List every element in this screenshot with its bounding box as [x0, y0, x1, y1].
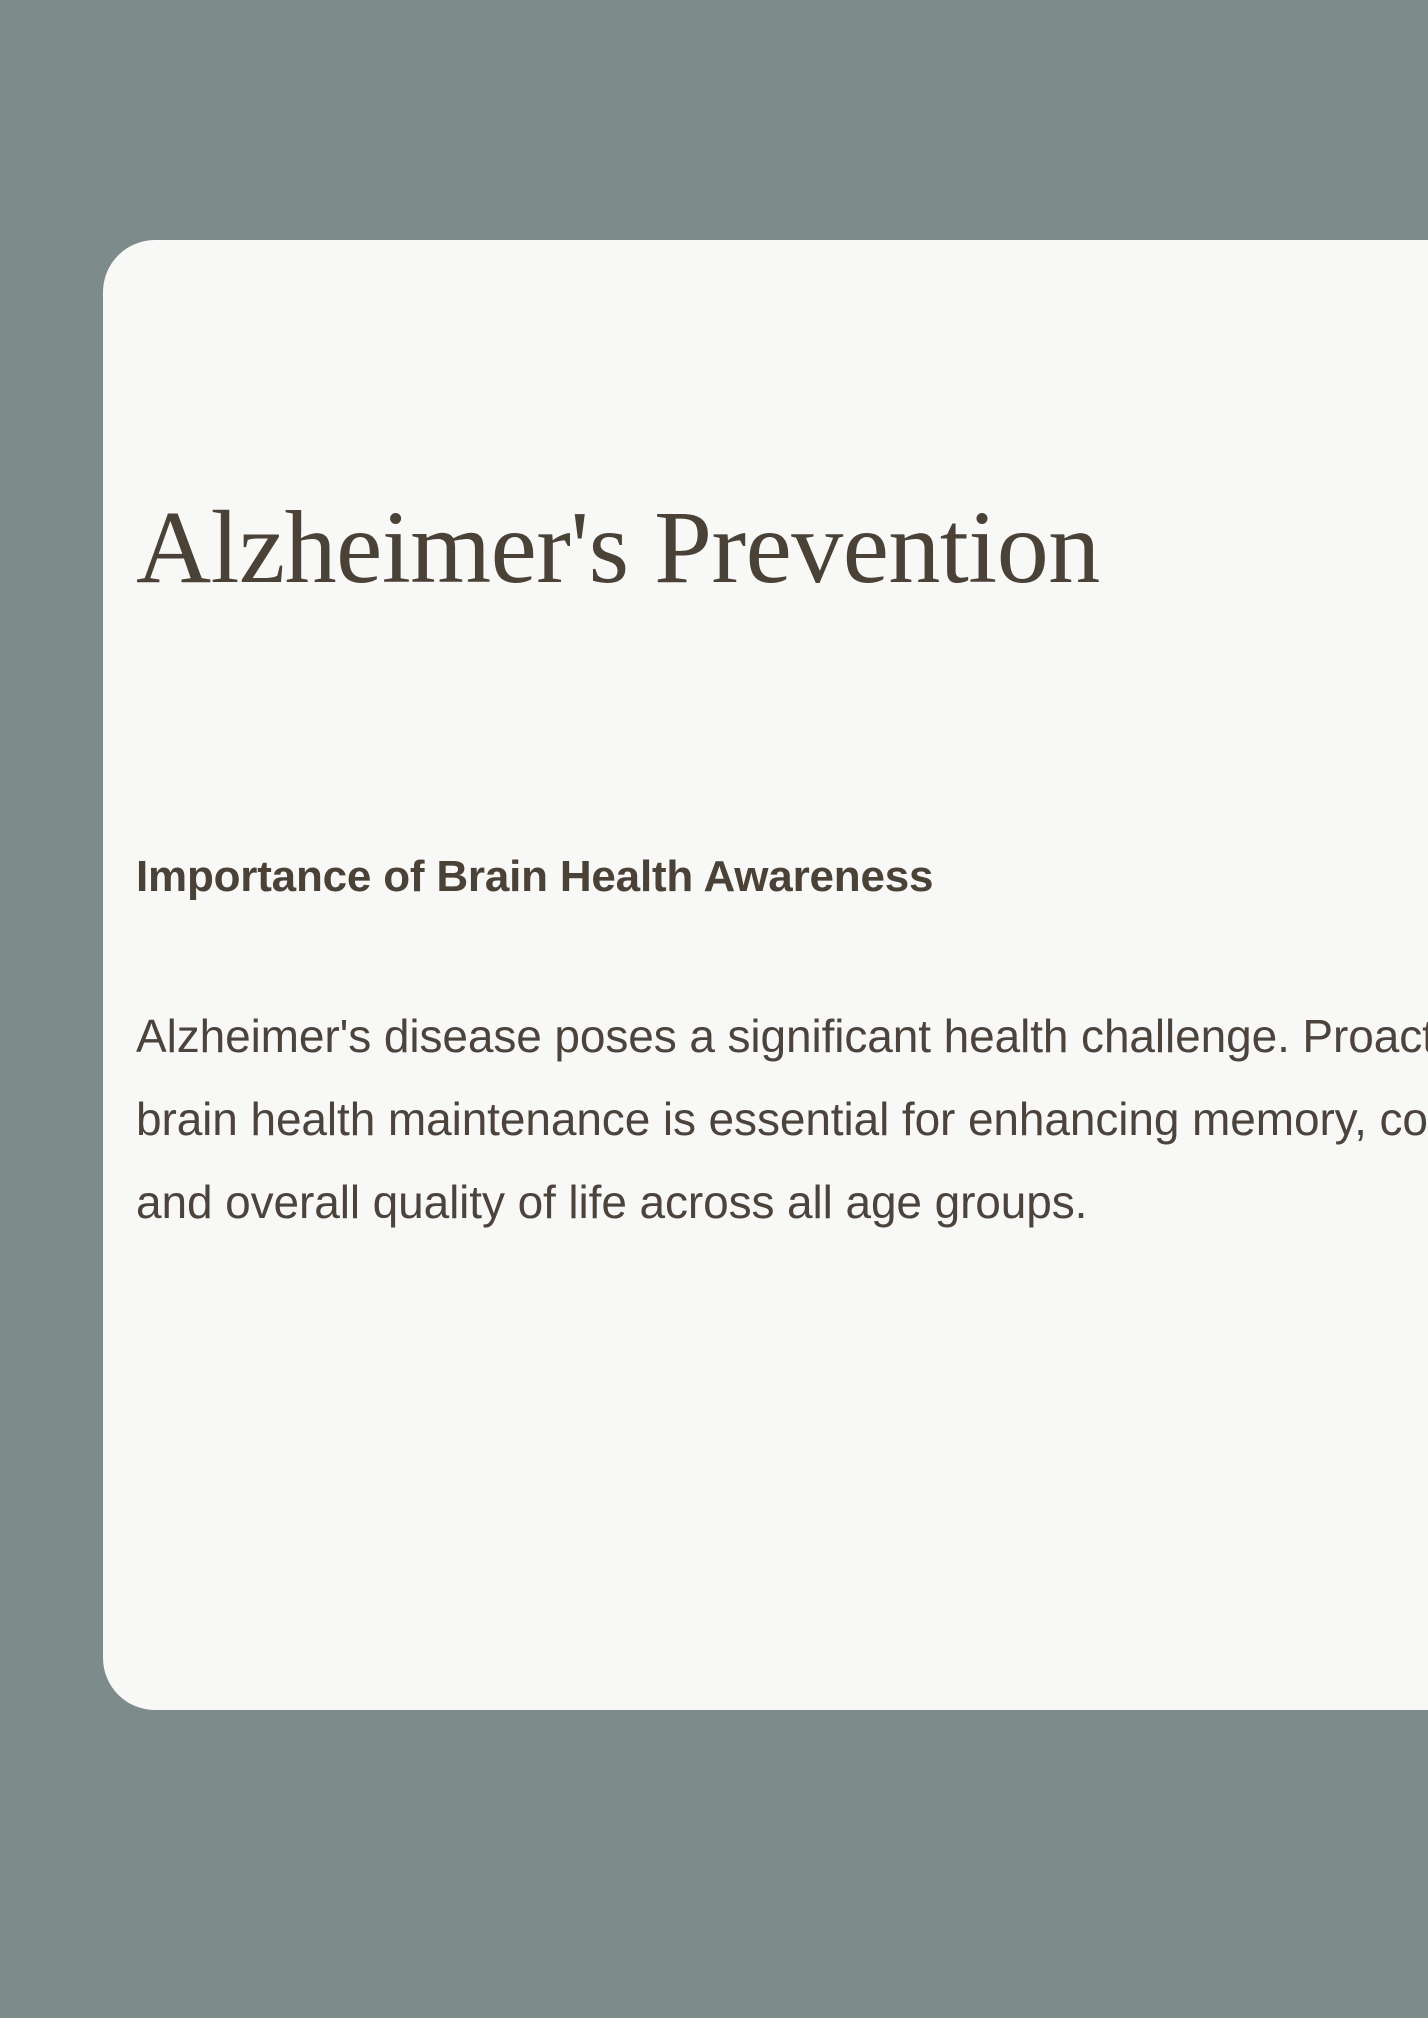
slide-card: Alzheimer's Prevention Importance of Bra… — [103, 240, 1428, 1710]
slide-card-content: Alzheimer's Prevention Importance of Bra… — [136, 240, 1428, 1710]
slide-title: Alzheimer's Prevention — [136, 492, 1100, 604]
slide-viewport: Alzheimer's Prevention Importance of Bra… — [0, 0, 1428, 2018]
slide-subtitle: Importance of Brain Health Awareness — [136, 851, 933, 904]
slide-body-paragraph: Alzheimer's disease poses a significant … — [136, 995, 1428, 1244]
